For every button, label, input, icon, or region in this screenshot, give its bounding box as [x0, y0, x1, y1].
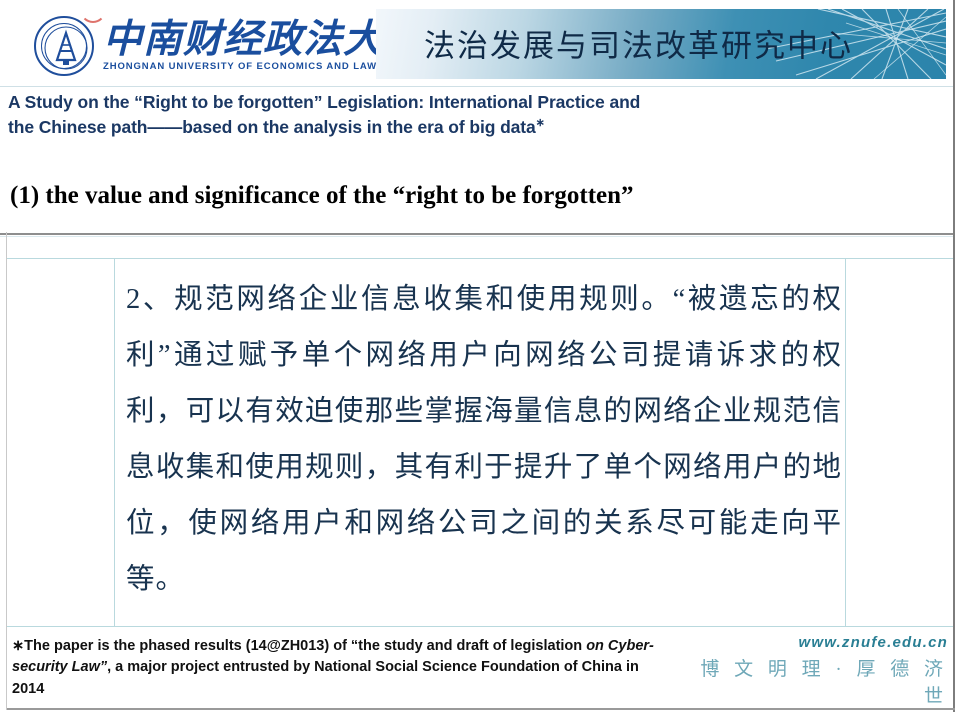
banner-title-text: 法治发展与司法改革研究中心: [424, 21, 853, 66]
university-logo: 中南财经政法大学 ZHONGNAN UNIVERSITY OF ECONOMIC…: [34, 13, 379, 79]
title-footnote-marker: ∗: [536, 117, 545, 129]
logo-chinese-name: 中南财经政法大学: [103, 20, 423, 59]
paper-title-line1: A Study on the “Right to be forgotten” L…: [8, 92, 640, 112]
footnote-part2: , a major project entrusted by National …: [12, 659, 639, 696]
section-heading: (1) the value and significance of the “r…: [10, 182, 634, 210]
slide-frame-right: [953, 0, 955, 712]
table-column-rule-left: [114, 259, 115, 626]
center-banner: 法治发展与司法改革研究中心: [376, 9, 946, 79]
footnote-part1: The paper is the phased results (14@ZH01…: [24, 638, 586, 654]
footnote-marker: ∗: [12, 638, 24, 654]
paper-title-line2: the Chinese path——based on the analysis …: [8, 117, 536, 137]
heading-divider-dark: [0, 233, 955, 235]
slide-header: 中南财经政法大学 ZHONGNAN UNIVERSITY OF ECONOMIC…: [0, 0, 960, 88]
slide-frame-bottom: [6, 708, 955, 710]
university-motto: 博 文 明 理 · 厚 德 济 世: [678, 654, 948, 708]
slide-frame-left: [6, 232, 7, 710]
logo-wordmark: 中南财经政法大学 ZHONGNAN UNIVERSITY OF ECONOMIC…: [103, 20, 423, 72]
table-column-rule-right: [845, 259, 846, 626]
footer-branding: www.znufe.edu.cn 博 文 明 理 · 厚 德 济 世: [678, 634, 948, 708]
university-website-url[interactable]: www.znufe.edu.cn: [678, 634, 948, 651]
footnote: ∗The paper is the phased results (14@ZH0…: [12, 636, 672, 700]
university-emblem-icon: [34, 16, 94, 76]
page-title: A Study on the “Right to be forgotten” L…: [8, 90, 908, 140]
slide-canvas: 中南财经政法大学 ZHONGNAN UNIVERSITY OF ECONOMIC…: [0, 0, 960, 720]
header-underline: [0, 86, 955, 87]
heading-divider-light: [0, 236, 955, 237]
chinese-body-text: 2、规范网络企业信息收集和使用规则。“被遗忘的权利”通过赋予单个网络用户向网络公…: [126, 272, 842, 608]
logo-english-name: ZHONGNAN UNIVERSITY OF ECONOMICS AND LAW: [103, 62, 423, 72]
